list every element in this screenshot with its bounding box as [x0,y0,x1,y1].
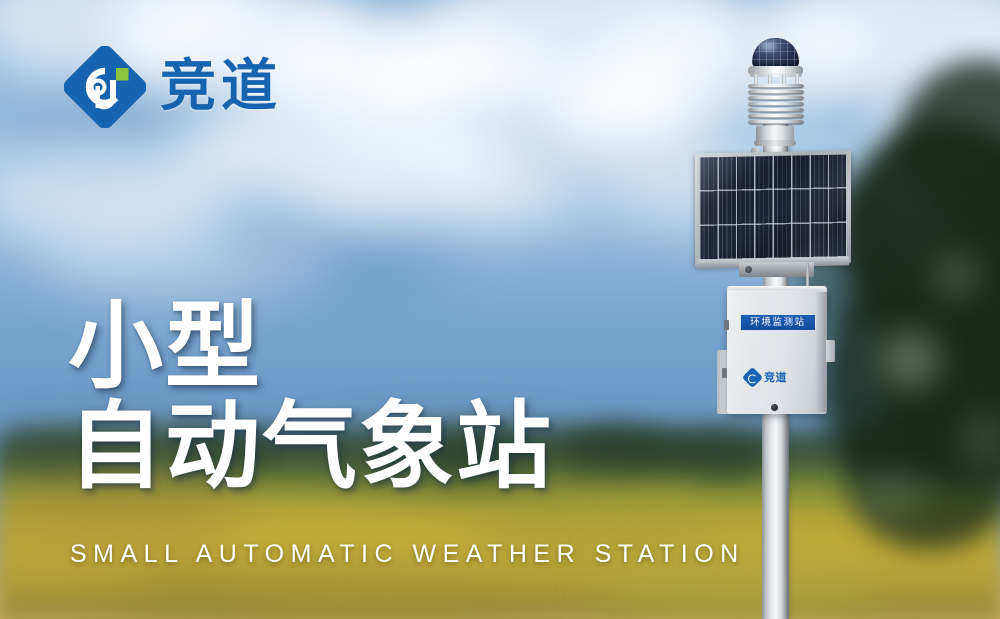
louver [748,108,804,112]
control-box-label-banner: 环境监测站 [740,314,816,331]
headline-line-2: 自动气象站 [68,397,553,498]
solar-panel-cells [699,154,847,260]
radiation-shield-louvers [748,84,804,128]
louver [748,114,804,118]
control-box-brand-text: 竞道 [764,372,787,383]
louver [748,120,804,124]
solar-panel [695,150,851,266]
louver [748,90,804,94]
control-box-brand-logo: 竞道 [745,367,811,387]
control-box [727,290,827,414]
louver [748,96,804,100]
sensor-neck-band [754,140,796,146]
brand-name-text: 竞道 [160,59,282,115]
mount-bolt [745,266,752,273]
dark-blue-dome-icon [752,38,799,68]
louver [748,102,804,106]
brand-logo: 竞道 [64,46,282,128]
jingdao-diamond-logo-icon [742,366,763,387]
panel-glare [699,154,847,260]
headline-line-1: 小型 [68,298,553,397]
control-box-latch [722,368,727,378]
promo-banner: 环境监测站 竞道 [0,0,1000,619]
subtitle-english: SMALL AUTOMATIC WEATHER STATION [70,540,745,569]
control-box-cable-gland [771,404,778,411]
louver [748,84,804,88]
dome-grid-texture [752,38,799,68]
control-box-latch [724,320,729,330]
support-pole-lower [762,410,789,619]
jingdao-diamond-logo-icon [64,46,146,128]
control-box-hinge-tab [826,340,835,362]
page-title: 小型 自动气象站 [68,298,553,497]
control-box-label-text: 环境监测站 [750,318,806,328]
